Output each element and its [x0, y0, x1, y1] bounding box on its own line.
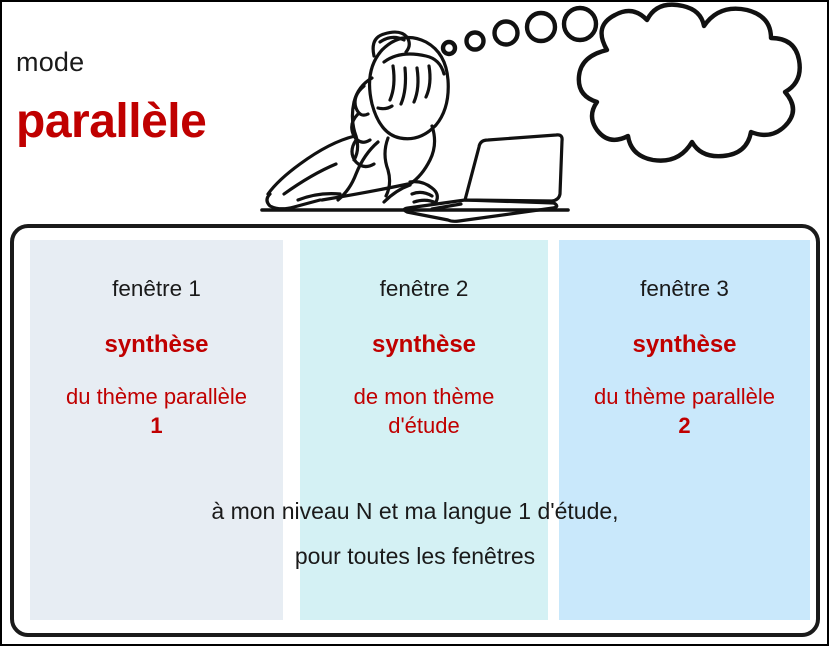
thought-cloud-svg: [435, 2, 829, 177]
synthesis-title-3: synthèse: [559, 333, 810, 357]
synthesis-title-1: synthèse: [30, 333, 283, 357]
windows-columns: fenêtre 1 synthèse du thème parallèle 1 …: [10, 240, 820, 620]
page-title: parallèle: [16, 94, 206, 149]
window-label-3: fenêtre 3: [559, 278, 810, 301]
mode-label: mode: [16, 47, 84, 78]
synthesis-number-3: 2: [561, 411, 808, 440]
thought-cloud-icon: j'apprends mieux par comparaison: [435, 2, 829, 177]
synthesis-subtitle-text-2: de mon thème: [354, 384, 495, 409]
window-label-1: fenêtre 1: [30, 278, 283, 301]
synthesis-subtitle-text-3: du thème parallèle: [594, 384, 775, 409]
synthesis-number-2: d'étude: [302, 411, 546, 440]
synthesis-subtitle-text-1: du thème parallèle: [66, 384, 247, 409]
header-area: mode parallèle: [2, 2, 829, 224]
window-panel-2[interactable]: fenêtre 2 synthèse de mon thème d'étude: [300, 240, 548, 620]
slide-canvas: mode parallèle: [0, 0, 829, 646]
synthesis-number-1: 1: [32, 411, 281, 440]
synthesis-subtitle-2: de mon thème d'étude: [300, 382, 548, 440]
window-label-2: fenêtre 2: [300, 278, 548, 301]
window-panel-3[interactable]: fenêtre 3 synthèse du thème parallèle 2: [559, 240, 810, 620]
synthesis-subtitle-1: du thème parallèle 1: [30, 382, 283, 440]
synthesis-subtitle-3: du thème parallèle 2: [559, 382, 810, 440]
synthesis-title-2: synthèse: [300, 333, 548, 357]
window-panel-1[interactable]: fenêtre 1 synthèse du thème parallèle 1: [30, 240, 283, 620]
